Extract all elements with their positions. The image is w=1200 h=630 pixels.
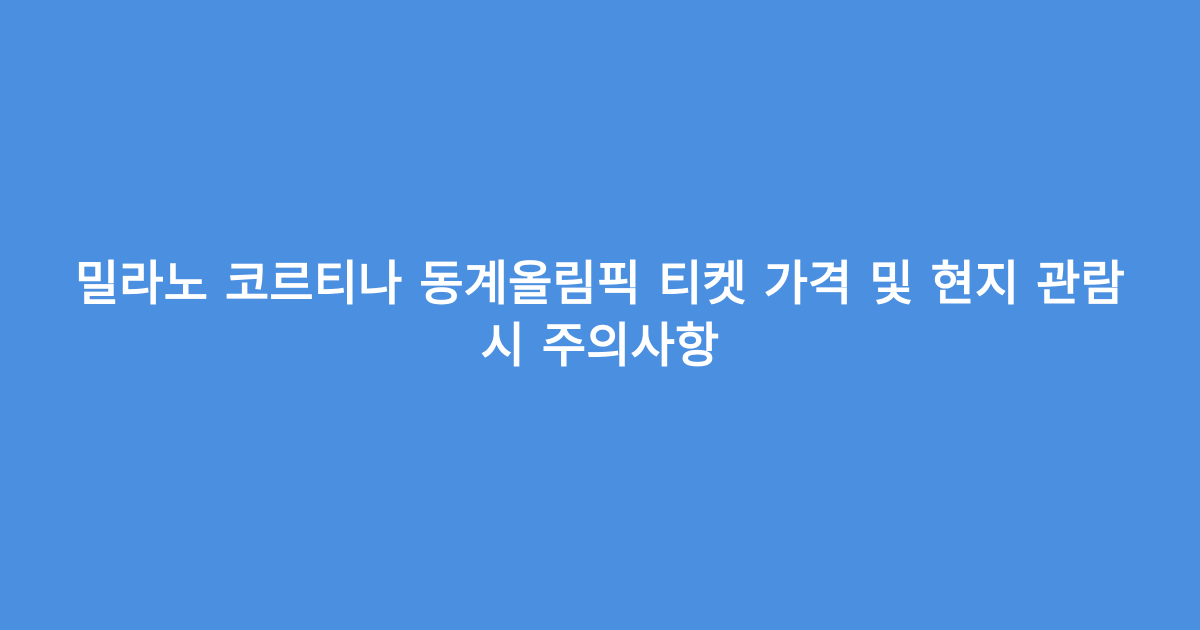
social-share-card: 밀라노 코르티나 동계올림픽 티켓 가격 및 현지 관람 시 주의사항	[0, 0, 1200, 630]
page-title: 밀라노 코르티나 동계올림픽 티켓 가격 및 현지 관람 시 주의사항	[60, 253, 1140, 377]
title-block: 밀라노 코르티나 동계올림픽 티켓 가격 및 현지 관람 시 주의사항	[60, 253, 1140, 377]
